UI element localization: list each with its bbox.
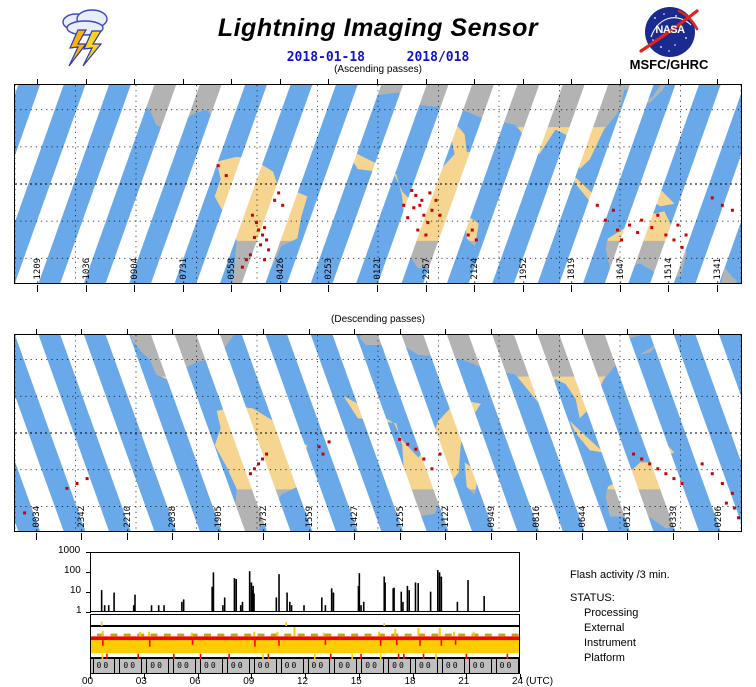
instrument-spike bbox=[439, 628, 441, 636]
instrument-spike bbox=[102, 631, 104, 637]
x-tick-label: 06 bbox=[190, 676, 201, 687]
flash-bar bbox=[393, 588, 395, 611]
instrument-tick bbox=[231, 634, 238, 637]
flash-detection-marker bbox=[249, 472, 252, 475]
tick-mark bbox=[309, 533, 310, 540]
instrument-tick bbox=[338, 634, 345, 637]
legend-status-title: STATUS: bbox=[570, 591, 670, 606]
ascending-orbit-tick: -1341 bbox=[713, 266, 723, 292]
flash-bar bbox=[249, 571, 251, 611]
x-tick-mark bbox=[251, 674, 252, 679]
flash-detection-marker bbox=[430, 467, 433, 470]
flash-bar bbox=[359, 573, 361, 611]
flash-detection-marker bbox=[255, 221, 258, 224]
external-band bbox=[91, 636, 519, 640]
flash-detection-marker bbox=[245, 258, 248, 261]
instrument-spike bbox=[293, 627, 295, 636]
flash-detection-marker bbox=[257, 462, 260, 465]
flash-activity-plot: 1000100101 00000000000000000000000000000… bbox=[0, 548, 756, 680]
flash-detection-marker bbox=[261, 458, 264, 461]
tick-mark bbox=[491, 533, 492, 540]
x-tick-mark bbox=[198, 674, 199, 679]
orbit-time-label: -2342 bbox=[70, 509, 94, 533]
instrument-spike bbox=[253, 632, 255, 637]
flash-detection-marker bbox=[721, 204, 724, 207]
flash-bar bbox=[276, 597, 278, 611]
orbit-time-label: -1341 bbox=[706, 261, 730, 285]
orbit-time-label: -0949 bbox=[480, 509, 504, 533]
instrument-tick bbox=[151, 634, 158, 637]
orbit-time-label: -1514 bbox=[657, 261, 681, 285]
orbit-time-label: -0034 bbox=[25, 509, 49, 533]
orbit-box-label: 00 bbox=[338, 661, 352, 670]
tick-mark bbox=[37, 285, 38, 292]
orbit-box: 00 bbox=[227, 659, 250, 673]
orbit-box-label: 00 bbox=[500, 661, 514, 670]
orbit-box-label: 00 bbox=[231, 661, 245, 670]
external-spike bbox=[102, 640, 104, 646]
flash-detection-marker bbox=[676, 224, 679, 227]
instrument-tick bbox=[405, 634, 412, 637]
tick-mark bbox=[231, 285, 232, 292]
instrument-tick bbox=[498, 634, 505, 637]
descending-orbit-tick: -0949 bbox=[487, 514, 497, 540]
orbit-box-label: 00 bbox=[204, 661, 218, 670]
ascending-orbit-tick: -1209 bbox=[33, 266, 43, 292]
orbit-box-label: 00 bbox=[123, 661, 137, 670]
flash-detection-marker bbox=[428, 191, 431, 194]
tick-mark bbox=[445, 533, 446, 540]
flash-bar bbox=[457, 602, 459, 611]
flash-bar bbox=[415, 582, 417, 611]
x-tick-mark bbox=[359, 674, 360, 679]
tick-mark bbox=[172, 533, 173, 540]
ascending-caption: (Ascending passes) bbox=[0, 64, 756, 75]
tick-mark bbox=[81, 533, 82, 540]
x-tick-label: 15 bbox=[351, 676, 362, 687]
external-spike bbox=[455, 640, 457, 645]
tick-mark bbox=[280, 285, 281, 292]
flash-detection-marker bbox=[406, 216, 409, 219]
orbit-time-label: -0426 bbox=[269, 261, 293, 285]
instrument-tick bbox=[458, 634, 465, 637]
descending-orbit-tick: -2210 bbox=[123, 514, 133, 540]
orbit-box-label: 00 bbox=[150, 661, 164, 670]
flash-detection-marker bbox=[253, 236, 256, 239]
flash-bar bbox=[325, 605, 327, 611]
flash-bar bbox=[181, 602, 183, 611]
instrument-spike bbox=[139, 632, 141, 637]
orbit-box: 00 bbox=[308, 659, 331, 673]
flash-detection-marker bbox=[467, 234, 470, 237]
orbit-time-label: -2124 bbox=[463, 261, 487, 285]
orbit-time-label: -1122 bbox=[434, 509, 458, 533]
orbit-box-label: 00 bbox=[473, 661, 487, 670]
orbit-box: 00 bbox=[361, 659, 384, 673]
instrument-spike bbox=[323, 633, 325, 637]
tick-mark bbox=[536, 533, 537, 540]
y-tick-label: 1000 bbox=[58, 545, 80, 556]
tick-mark bbox=[263, 533, 264, 540]
flash-bar bbox=[291, 605, 293, 611]
legend-flash-label: Flash activity /3 min. bbox=[570, 568, 670, 583]
flash-bar bbox=[441, 577, 443, 611]
orbit-time-label: -1036 bbox=[75, 261, 99, 285]
orbit-time-label: -0816 bbox=[525, 509, 549, 533]
orbit-time-label: -1819 bbox=[560, 261, 584, 285]
external-spike bbox=[396, 640, 398, 645]
instrument-tick bbox=[512, 634, 519, 637]
instrument-tick bbox=[284, 634, 291, 637]
tick-mark bbox=[354, 533, 355, 540]
orbit-time-label: -1209 bbox=[26, 261, 50, 285]
instrument-tick bbox=[164, 634, 171, 637]
y-tick-label: 100 bbox=[64, 565, 81, 576]
flash-bar bbox=[224, 597, 226, 611]
flash-detection-marker bbox=[632, 453, 635, 456]
descending-orbit-tick: -0512 bbox=[623, 514, 633, 540]
flash-detection-marker bbox=[650, 226, 653, 229]
tick-mark bbox=[582, 533, 583, 540]
ascending-orbit-tick: -2257 bbox=[422, 266, 432, 292]
orbit-time-label: -1952 bbox=[512, 261, 536, 285]
instrument-tick bbox=[217, 634, 224, 637]
flash-detection-marker bbox=[281, 204, 284, 207]
flash-bar bbox=[278, 574, 280, 611]
x-tick-label: 03 bbox=[136, 676, 147, 687]
status-external-instrument-row bbox=[90, 626, 520, 658]
orbit-box-label: 00 bbox=[97, 661, 111, 670]
orbit-box: 00 bbox=[334, 659, 357, 673]
instrument-tick bbox=[324, 634, 331, 637]
flash-bar bbox=[240, 605, 242, 611]
flash-bar bbox=[402, 602, 404, 611]
flash-detection-marker bbox=[656, 214, 659, 217]
orbit-time-label: -0121 bbox=[366, 261, 390, 285]
flash-detection-marker bbox=[681, 246, 684, 249]
flash-detection-marker bbox=[636, 231, 639, 234]
flash-detection-marker bbox=[672, 477, 675, 480]
flash-bar bbox=[467, 580, 469, 611]
flash-bar bbox=[108, 605, 110, 611]
flash-bar bbox=[417, 583, 419, 611]
tick-mark bbox=[523, 285, 524, 292]
ascending-bottom-ticks: -1209-1036-0904-0731-0558-0426-0253-0121… bbox=[14, 266, 742, 292]
instrument-spike bbox=[417, 628, 419, 636]
descending-orbit-tick: -0339 bbox=[669, 514, 679, 540]
legend-row-external: External bbox=[570, 621, 670, 636]
instrument-tick bbox=[177, 634, 184, 637]
external-spike bbox=[441, 640, 443, 646]
tick-mark bbox=[400, 533, 401, 540]
flash-detection-marker bbox=[263, 226, 266, 229]
flash-detection-marker bbox=[261, 234, 264, 237]
ascending-orbit-tick: -1036 bbox=[82, 266, 92, 292]
flash-bar bbox=[101, 590, 103, 611]
flash-detection-marker bbox=[648, 462, 651, 465]
orbit-box: 00 bbox=[146, 659, 169, 673]
external-spike bbox=[380, 640, 382, 646]
descending-orbit-tick: -2342 bbox=[77, 514, 87, 540]
flash-detection-marker bbox=[398, 438, 401, 441]
flash-detection-marker bbox=[412, 206, 415, 209]
flash-bar bbox=[151, 605, 153, 611]
flash-detection-marker bbox=[701, 462, 704, 465]
orbit-time-label: -1732 bbox=[252, 509, 276, 533]
ascending-orbit-tick: -1647 bbox=[616, 266, 626, 292]
orbit-box: 00 bbox=[93, 659, 116, 673]
plot-legend: Flash activity /3 min. STATUS: Processin… bbox=[570, 568, 670, 666]
flash-bar bbox=[113, 593, 115, 611]
flash-bar bbox=[400, 592, 402, 611]
orbit-time-label: -2038 bbox=[161, 509, 185, 533]
orbit-box: 00 bbox=[200, 659, 223, 673]
legend-row-instrument: Instrument bbox=[570, 636, 670, 651]
descending-world-map bbox=[14, 334, 742, 532]
instrument-spike bbox=[394, 629, 396, 637]
instrument-spike bbox=[378, 632, 380, 637]
descending-bottom-ticks: -0034-2342-2210-2038-1905-1732-1559-1427… bbox=[14, 514, 742, 540]
tick-mark bbox=[36, 533, 37, 540]
instrument-tick bbox=[472, 634, 479, 637]
x-tick-mark bbox=[90, 674, 91, 679]
orbit-box: 00 bbox=[442, 659, 465, 673]
orbit-box: 00 bbox=[254, 659, 277, 673]
external-spike bbox=[254, 640, 256, 647]
flash-detection-marker bbox=[249, 253, 252, 256]
flash-bar bbox=[360, 605, 362, 611]
flash-bar bbox=[163, 605, 165, 611]
flash-detection-marker bbox=[322, 453, 325, 456]
legend-row-processing: Processing bbox=[570, 606, 670, 621]
flash-bar bbox=[253, 594, 255, 611]
flash-detection-marker bbox=[471, 229, 474, 232]
flash-bar bbox=[439, 572, 441, 611]
tick-mark bbox=[673, 533, 674, 540]
x-tick-mark bbox=[413, 674, 414, 679]
instrument-tick bbox=[204, 634, 211, 637]
descending-orbit-tick: -1559 bbox=[305, 514, 315, 540]
orbit-box-label: 00 bbox=[446, 661, 460, 670]
flash-detection-marker bbox=[422, 214, 425, 217]
tick-mark bbox=[328, 285, 329, 292]
external-spike bbox=[149, 640, 151, 647]
tick-mark bbox=[183, 285, 184, 292]
orbit-box: 00 bbox=[119, 659, 142, 673]
flash-detection-marker bbox=[263, 258, 266, 261]
orbit-time-label: -0644 bbox=[571, 509, 595, 533]
external-spike bbox=[278, 640, 280, 646]
orbit-box-label: 00 bbox=[392, 661, 406, 670]
flash-detection-marker bbox=[612, 209, 615, 212]
ascending-orbit-tick: -0558 bbox=[227, 266, 237, 292]
flash-detection-marker bbox=[76, 482, 79, 485]
nasa-wordmark: NASA bbox=[645, 24, 695, 40]
flash-detection-marker bbox=[672, 238, 675, 241]
orbit-box-label: 00 bbox=[285, 661, 299, 670]
descending-orbit-tick: -0816 bbox=[532, 514, 542, 540]
flash-detection-marker bbox=[604, 219, 607, 222]
date-doy: 2018/018 bbox=[407, 50, 470, 65]
instrument-spike bbox=[148, 632, 150, 637]
tick-mark bbox=[620, 285, 621, 292]
tick-mark bbox=[127, 533, 128, 540]
flash-detection-marker bbox=[439, 453, 442, 456]
instrument-spike bbox=[453, 632, 455, 637]
x-tick-label: 18 bbox=[405, 676, 416, 687]
instrument-tick bbox=[431, 634, 438, 637]
flash-detection-marker bbox=[711, 472, 714, 475]
descending-orbit-tick: -0206 bbox=[714, 514, 724, 540]
orbit-box-label: 00 bbox=[365, 661, 379, 670]
flash-detection-marker bbox=[434, 199, 437, 202]
flash-bar bbox=[104, 605, 106, 611]
flash-detection-marker bbox=[640, 219, 643, 222]
flash-bar bbox=[242, 602, 244, 611]
ascending-orbit-tick: -0121 bbox=[373, 266, 383, 292]
flash-detection-marker bbox=[731, 209, 734, 212]
flash-detection-marker bbox=[257, 229, 260, 232]
flash-detection-marker bbox=[731, 492, 734, 495]
flash-bar bbox=[408, 590, 410, 611]
flash-detection-marker bbox=[596, 204, 599, 207]
instrument-tick bbox=[445, 634, 452, 637]
ascending-orbit-tick: -0731 bbox=[179, 266, 189, 292]
orbit-time-label: -0512 bbox=[616, 509, 640, 533]
orbit-time-label: -0558 bbox=[220, 261, 244, 285]
orbit-time-label: -1255 bbox=[389, 509, 413, 533]
instrument-tick bbox=[110, 634, 117, 637]
tick-mark bbox=[717, 285, 718, 292]
flash-detection-marker bbox=[664, 472, 667, 475]
orbit-time-label: -1559 bbox=[298, 509, 322, 533]
flash-detection-marker bbox=[422, 458, 425, 461]
instrument-tick bbox=[258, 634, 265, 637]
flash-detection-marker bbox=[616, 229, 619, 232]
x-tick-mark bbox=[466, 674, 467, 679]
descending-orbit-tick: -2038 bbox=[168, 514, 178, 540]
status-external-instrument-trace bbox=[91, 627, 519, 657]
descending-orbit-tick: -0644 bbox=[578, 514, 588, 540]
x-tick-label: 24 (UTC) bbox=[512, 676, 553, 687]
ascending-orbit-tick: -2124 bbox=[470, 266, 480, 292]
orbit-time-label: -2210 bbox=[116, 509, 140, 533]
instrument-tick bbox=[485, 634, 492, 637]
instrument-tick bbox=[351, 634, 358, 637]
descending-orbit-tick: -1255 bbox=[396, 514, 406, 540]
flash-detection-marker bbox=[267, 248, 270, 251]
flash-detection-marker bbox=[328, 440, 331, 443]
external-spike bbox=[192, 640, 194, 645]
x-tick-label: 12 bbox=[297, 676, 308, 687]
flash-bar bbox=[407, 586, 409, 611]
flash-detection-marker bbox=[259, 243, 262, 246]
orbit-box: 00 bbox=[388, 659, 411, 673]
ascending-orbit-tick: -0253 bbox=[324, 266, 334, 292]
x-tick-mark bbox=[144, 674, 145, 679]
flash-detection-marker bbox=[418, 204, 421, 207]
y-tick-label: 1 bbox=[76, 605, 82, 616]
flash-detection-marker bbox=[475, 238, 478, 241]
orbit-box-label: 00 bbox=[258, 661, 272, 670]
flash-bar bbox=[363, 602, 365, 611]
orbit-box-label: 00 bbox=[312, 661, 326, 670]
flash-detection-marker bbox=[430, 209, 433, 212]
flash-bar bbox=[384, 582, 386, 611]
flash-bar bbox=[286, 593, 288, 611]
flash-detection-marker bbox=[277, 191, 280, 194]
flash-detection-marker bbox=[664, 234, 667, 237]
flash-bar bbox=[235, 579, 237, 611]
instrument-tick bbox=[311, 634, 318, 637]
x-tick-label: 21 bbox=[458, 676, 469, 687]
external-spike bbox=[419, 640, 421, 646]
descending-caption: (Descending passes) bbox=[0, 314, 756, 325]
flash-detection-marker bbox=[265, 453, 268, 456]
tick-mark bbox=[426, 285, 427, 292]
flash-detection-marker bbox=[640, 458, 643, 461]
flash-bar bbox=[234, 578, 236, 611]
flash-detection-marker bbox=[416, 229, 419, 232]
tick-mark bbox=[377, 285, 378, 292]
orbit-box: 00 bbox=[281, 659, 304, 673]
flash-bar bbox=[331, 588, 333, 611]
flash-detection-marker bbox=[410, 189, 413, 192]
flash-detection-marker bbox=[414, 194, 417, 197]
flash-bar bbox=[430, 592, 432, 611]
instrument-tick bbox=[124, 634, 131, 637]
flash-activity-axes bbox=[90, 552, 520, 612]
flash-bar bbox=[483, 596, 485, 611]
flash-detection-marker bbox=[620, 238, 623, 241]
x-tick-label: 00 bbox=[82, 676, 93, 687]
date-iso: 2018-01-18 bbox=[287, 50, 365, 65]
instrument-tick bbox=[244, 634, 251, 637]
tick-mark bbox=[668, 285, 669, 292]
flash-bar bbox=[437, 570, 439, 611]
flash-bar bbox=[213, 572, 215, 611]
orbit-boxes: 00000000000000000000000000000000 bbox=[91, 659, 519, 673]
external-spike bbox=[325, 640, 327, 645]
flash-bar bbox=[289, 602, 291, 611]
tick-mark bbox=[718, 533, 719, 540]
orbit-time-label: -0339 bbox=[662, 509, 686, 533]
legend-row-platform: Platform bbox=[570, 651, 670, 666]
x-tick-mark bbox=[305, 674, 306, 679]
flash-detection-marker bbox=[656, 467, 659, 470]
ascending-map-graphics bbox=[15, 85, 741, 283]
orbit-box: 00 bbox=[469, 659, 492, 673]
instrument-tick bbox=[365, 634, 372, 637]
ascending-orbit-tick: -0904 bbox=[130, 266, 140, 292]
orbit-time-label: -0904 bbox=[123, 261, 147, 285]
flash-bar bbox=[321, 597, 323, 611]
x-tick-label: 09 bbox=[243, 676, 254, 687]
flash-detection-marker bbox=[253, 467, 256, 470]
tick-mark bbox=[474, 285, 475, 292]
flash-detection-marker bbox=[402, 204, 405, 207]
orbit-time-label: -0206 bbox=[707, 509, 731, 533]
ascending-orbit-tick: -1514 bbox=[664, 266, 674, 292]
flash-detection-marker bbox=[406, 443, 409, 446]
ascending-orbit-tick: -0426 bbox=[276, 266, 286, 292]
flash-detection-marker bbox=[225, 174, 228, 177]
orbit-time-label: -2257 bbox=[415, 261, 439, 285]
descending-orbit-tick: -1122 bbox=[441, 514, 451, 540]
flash-bar bbox=[303, 605, 305, 611]
orbit-box-label: 00 bbox=[419, 661, 433, 670]
instrument-spike bbox=[473, 632, 475, 637]
